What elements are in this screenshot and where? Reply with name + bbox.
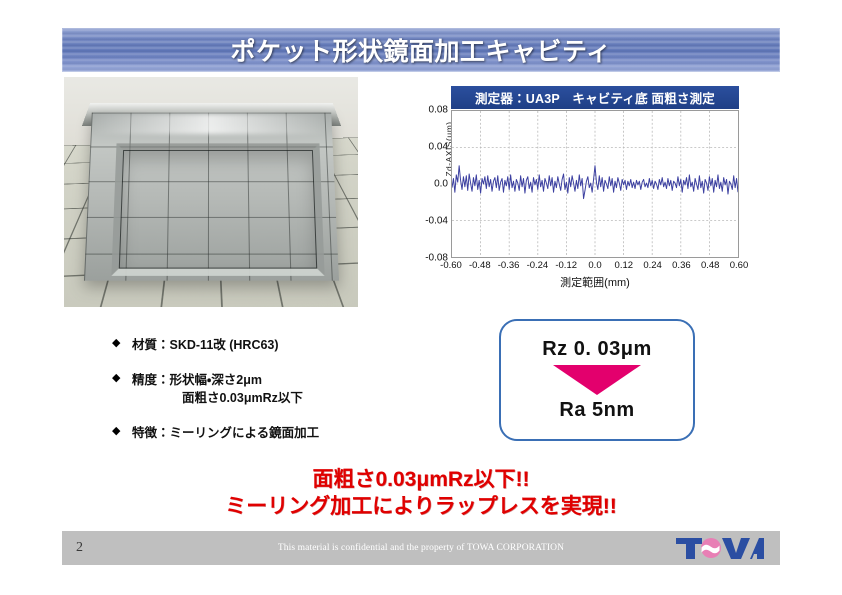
- list-item: ◆ 特徴：ミーリングによる鏡面加工: [112, 424, 432, 442]
- chart-y-tick-label: -0.04: [425, 216, 448, 227]
- chart-x-tick-label: -0.60: [440, 260, 462, 271]
- roughness-callout-box: Rz 0. 03μm Ra 5nm: [499, 319, 695, 441]
- chart-x-tick-label: 0.60: [730, 260, 749, 271]
- photo-specular-highlight: [93, 114, 328, 135]
- list-item-text: 精度：形状幅・深さ2μm 面粗さ0.03μmRz以下: [132, 371, 432, 407]
- chart-x-axis-label: 測定範囲(mm): [451, 274, 739, 290]
- slide-title-bar: ポケット形状鏡面加工キャビティ: [62, 28, 780, 72]
- emphasis-text: 面粗さ0.03μmRz以下!! ミーリング加工によりラップレスを実現!!: [0, 466, 842, 521]
- chart-x-tick-label: 0.24: [643, 260, 662, 271]
- chart-y-tick-label: 0.04: [429, 142, 448, 153]
- towa-logo: [674, 535, 766, 561]
- diamond-bullet-icon: ◆: [112, 371, 132, 387]
- photo-pocket-groove: [111, 144, 324, 276]
- chart-x-tick-label: -0.24: [527, 260, 549, 271]
- emphasis-line-1: 面粗さ0.03μmRz以下!!: [0, 466, 842, 493]
- chart-y-tick-label: 0.08: [429, 105, 448, 116]
- list-item-sub: 面粗さ0.03μmRz以下: [132, 389, 432, 407]
- down-arrow-icon: [553, 365, 641, 395]
- chart-y-tick-label: 0.0: [434, 179, 448, 190]
- chart-x-tick-label: 0.36: [672, 260, 691, 271]
- list-item: ◆ 精度：形状幅・深さ2μm 面粗さ0.03μmRz以下: [112, 371, 432, 407]
- chart-title: 測定器：UA3P キャビティ底 面粗さ測定: [451, 86, 739, 109]
- chart-x-tick-label: 0.12: [615, 260, 634, 271]
- chart-plot-area: [451, 110, 739, 258]
- towa-logo-mark: [674, 535, 766, 561]
- list-item: ◆ 材質：SKD-11改 (HRC63): [112, 336, 432, 354]
- list-item-text: 特徴：ミーリングによる鏡面加工: [132, 424, 432, 442]
- cavity-photo: [64, 77, 358, 307]
- chart-svg: [452, 111, 738, 257]
- diamond-bullet-icon: ◆: [112, 336, 132, 352]
- callout-ra-value: Ra 5nm: [559, 399, 634, 422]
- callout-rz-value: Rz 0. 03μm: [542, 338, 652, 361]
- diamond-bullet-icon: ◆: [112, 424, 132, 440]
- chart-x-tick-label: -0.12: [555, 260, 577, 271]
- spec-bullet-list: ◆ 材質：SKD-11改 (HRC63) ◆ 精度：形状幅・深さ2μm 面粗さ0…: [112, 336, 432, 460]
- roughness-chart: 測定器：UA3P キャビティ底 面粗さ測定 Zd-AXIS(μm) 0.080.…: [418, 86, 744, 291]
- confidentiality-notice: This material is confidential and the pr…: [62, 543, 780, 553]
- emphasis-line-2: ミーリング加工によりラップレスを実現!!: [0, 493, 842, 520]
- chart-x-tick-label: 0.48: [701, 260, 720, 271]
- logo-circle-o: [701, 538, 721, 558]
- chart-y-ticks: 0.080.040.0-0.04-0.08: [418, 110, 450, 258]
- chart-x-tick-label: -0.48: [469, 260, 491, 271]
- chart-x-tick-label: -0.36: [498, 260, 520, 271]
- slide-footer: 2 This material is confidential and the …: [62, 531, 780, 565]
- slide-root: { "slide": { "title": "ポケット形状鏡面加工キャビティ",…: [0, 0, 842, 595]
- page-title: ポケット形状鏡面加工キャビティ: [230, 32, 611, 68]
- chart-x-ticks: -0.60-0.48-0.36-0.24-0.120.00.120.240.36…: [451, 260, 739, 274]
- chart-x-tick-label: 0.0: [588, 260, 601, 271]
- list-item-text: 材質：SKD-11改 (HRC63): [132, 336, 432, 354]
- chart-gridlines: [452, 111, 738, 257]
- list-item-main: 精度：形状幅・深さ2μm: [132, 373, 262, 387]
